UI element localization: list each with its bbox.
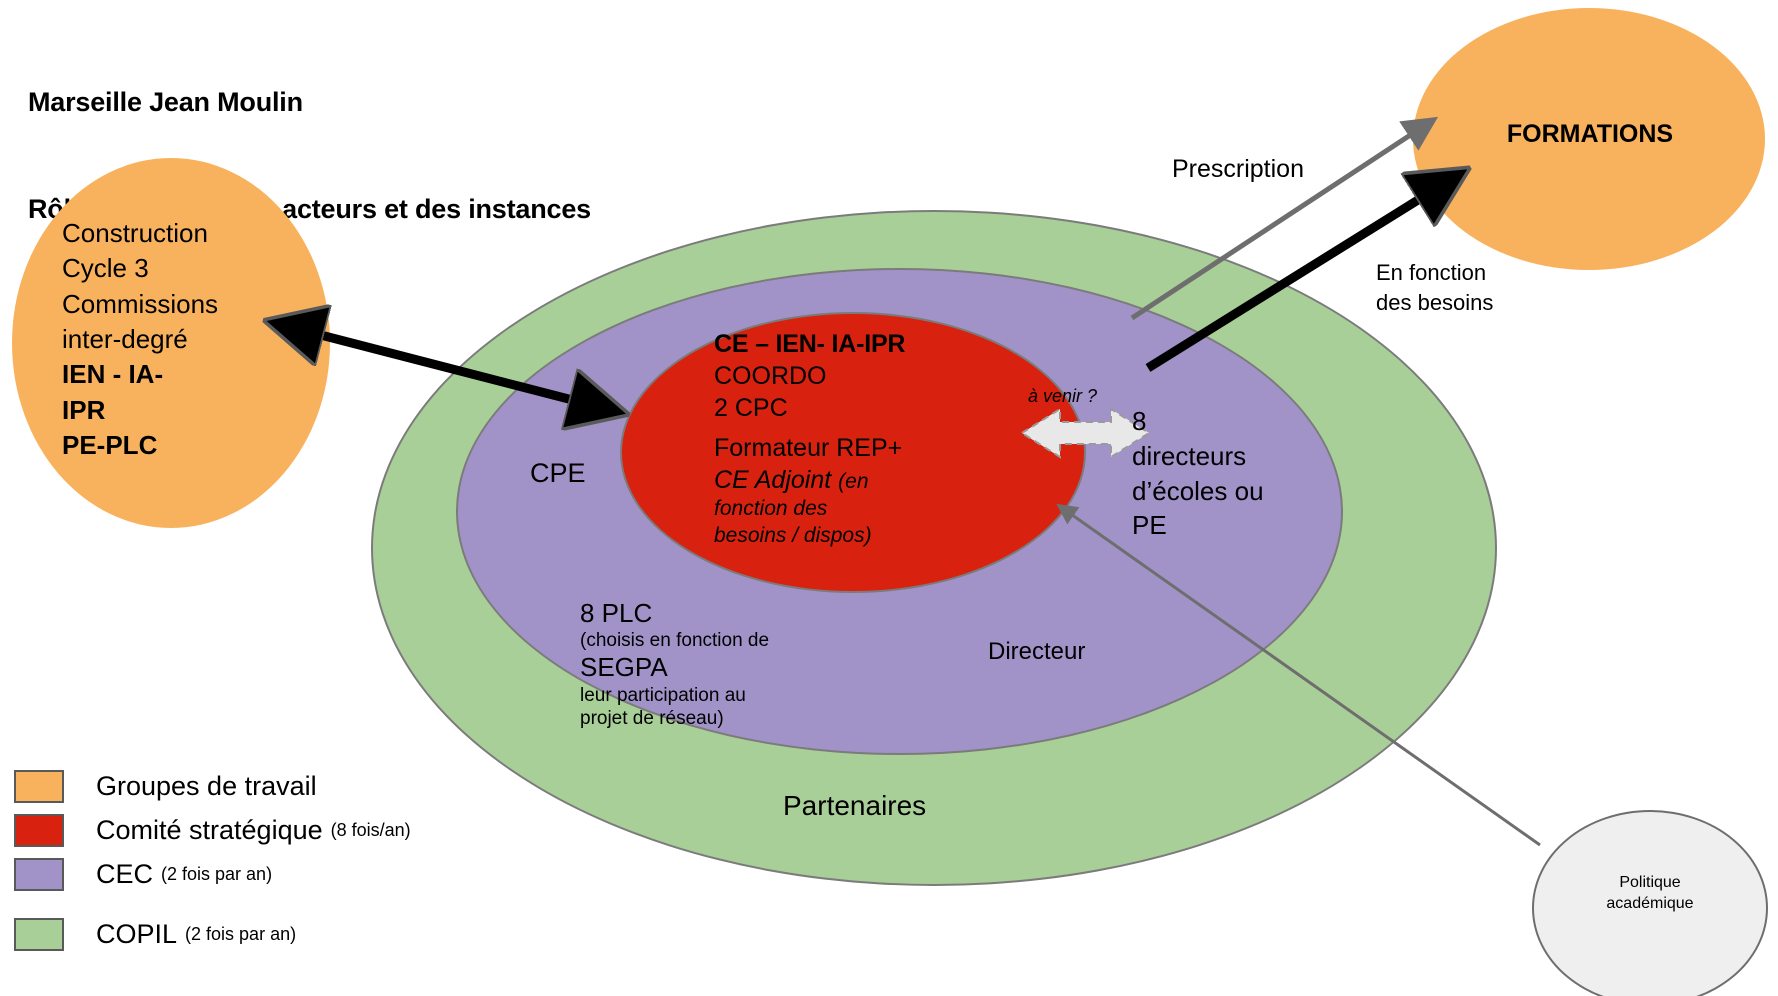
legend: Groupes de travail Comité stratégique (8…	[14, 768, 534, 960]
partenaires-label: Partenaires	[783, 790, 926, 822]
legend-item-cec: CEC (2 fois par an)	[14, 856, 534, 892]
plc-text-block: 8 PLC (choisis en fonction de SEGPA leur…	[580, 598, 830, 730]
directeurs-ecoles-text: 8 directeurs d’écoles ou PE	[1132, 404, 1302, 543]
legend-item-comite: Comité stratégique (8 fois/an)	[14, 812, 534, 848]
legend-swatch-groupes	[14, 770, 64, 803]
plc-note-2: leur participation au	[580, 684, 830, 707]
ce-adjoint-text: CE Adjoint	[714, 466, 838, 494]
diagram-canvas: Marseille Jean Moulin Rôles et places de…	[0, 0, 1778, 996]
legend-note-cec: (2 fois par an)	[161, 864, 272, 885]
comite-line-3: 2 CPC	[714, 392, 974, 424]
plc-note-1: (choisis en fonction de	[580, 629, 830, 652]
politique-academique-text: Politique académique	[1566, 873, 1734, 915]
left-line-6: IPR	[62, 393, 292, 428]
legend-label-copil: COPIL	[96, 919, 177, 950]
left-line-7: PE-PLC	[62, 428, 292, 463]
cpe-label: CPE	[530, 458, 586, 489]
legend-label-cec: CEC	[96, 859, 153, 890]
comite-line-1: CE – IEN- IA-IPR	[714, 328, 974, 360]
ce-adjoint-paren: (en	[838, 470, 868, 493]
plc-note-3: projet de réseau)	[580, 707, 830, 730]
directeur-label: Directeur	[988, 638, 1085, 666]
legend-swatch-copil	[14, 918, 64, 951]
plc-segpa: SEGPA	[580, 652, 830, 683]
left-line-3: Commissions	[62, 287, 292, 322]
comite-line-7: besoins / dispos)	[714, 523, 974, 550]
directeurs-line-3: d’écoles ou	[1132, 474, 1302, 509]
besoins-line-1: En fonction	[1376, 258, 1493, 288]
legend-swatch-cec	[14, 858, 64, 891]
directeurs-line-2: directeurs	[1132, 439, 1302, 474]
en-fonction-des-besoins-label: En fonction des besoins	[1376, 258, 1493, 317]
comite-strategique-text: CE – IEN- IA-IPR COORDO 2 CPC Formateur …	[714, 328, 974, 550]
comite-line-4: Formateur REP+	[714, 432, 974, 464]
left-line-5: IEN - IA-	[62, 357, 292, 392]
comite-spacer	[714, 424, 974, 432]
groupes-de-travail-text: Construction Cycle 3 Commissions inter-d…	[62, 216, 292, 464]
directeurs-line-4: PE	[1132, 508, 1302, 543]
legend-item-copil: COPIL (2 fois par an)	[14, 916, 534, 952]
legend-label-comite: Comité stratégique	[96, 815, 323, 846]
legend-swatch-comite	[14, 814, 64, 847]
left-line-4: inter-degré	[62, 322, 292, 357]
comite-line-2: COORDO	[714, 360, 974, 392]
prescription-label: Prescription	[1172, 155, 1304, 184]
title-line-1: Marseille Jean Moulin	[28, 85, 591, 121]
politique-line-1: Politique	[1566, 873, 1734, 894]
besoins-line-2: des besoins	[1376, 288, 1493, 318]
comite-line-6: fonction des	[714, 496, 974, 523]
directeurs-line-1: 8	[1132, 404, 1302, 439]
comite-line-5: CE Adjoint (en	[714, 464, 974, 496]
legend-note-copil: (2 fois par an)	[185, 924, 296, 945]
plc-title: 8 PLC	[580, 598, 830, 629]
politique-line-2: académique	[1566, 894, 1734, 915]
legend-note-comite: (8 fois/an)	[331, 820, 411, 841]
a-venir-label: à venir ?	[1028, 386, 1097, 407]
formations-label: FORMATIONS	[1475, 120, 1705, 149]
legend-label-groupes: Groupes de travail	[96, 771, 317, 802]
legend-item-groupes: Groupes de travail	[14, 768, 534, 804]
left-line-1: Construction	[62, 216, 292, 251]
left-line-2: Cycle 3	[62, 251, 292, 286]
